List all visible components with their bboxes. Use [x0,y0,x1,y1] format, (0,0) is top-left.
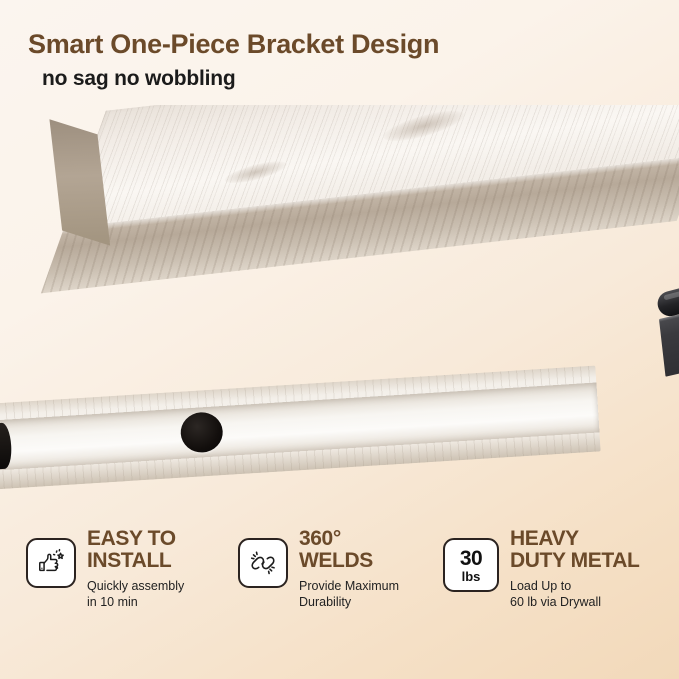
feature-heavy-duty-metal: 30 lbs HEAVY DUTY METAL Load Up to 60 lb… [443,528,679,611]
feature-360-welds: 360° WELDS Provide Maximum Durability [238,528,443,611]
thumbs-up-star-icon [26,538,76,588]
feature-subtitle: Quickly assembly in 10 min [87,578,184,611]
weight-badge-icon: 30 lbs [443,538,499,592]
page-title: Smart One-Piece Bracket Design [28,30,679,58]
weight-badge-number: 30 [460,548,482,569]
lower-shelf-channel [0,383,600,472]
bracket-rod [655,271,679,319]
product-photo-area: Ins are [0,105,679,520]
wood-knot-icon [381,105,467,147]
feature-row: EASY TO INSTALL Quickly assembly in 10 m… [0,528,679,648]
weight-badge-unit: lbs [462,570,481,583]
product-infographic: Smart One-Piece Bracket Design no sag no… [0,0,679,679]
feature-title: EASY TO INSTALL [87,528,184,572]
feature-subtitle: Load Up to 60 lb via Drywall [510,578,639,611]
lower-shelf-body [0,366,601,491]
header: Smart One-Piece Bracket Design no sag no… [0,0,679,91]
feature-text: HEAVY DUTY METAL Load Up to 60 lb via Dr… [510,528,639,611]
page-subtitle: no sag no wobbling [42,67,679,91]
feature-text: EASY TO INSTALL Quickly assembly in 10 m… [87,528,184,611]
metal-bracket [647,281,679,386]
feature-easy-to-install: EASY TO INSTALL Quickly assembly in 10 m… [26,528,238,611]
weld-chain-link-icon [238,538,288,588]
upper-shelf-image: Ins [106,105,679,359]
wood-knot-icon [223,157,289,188]
feature-subtitle: Provide Maximum Durability [299,578,399,611]
feature-title: 360° WELDS [299,528,399,572]
feature-text: 360° WELDS Provide Maximum Durability [299,528,399,611]
lower-shelf-image: are [0,366,602,515]
feature-title: HEAVY DUTY METAL [510,528,639,572]
